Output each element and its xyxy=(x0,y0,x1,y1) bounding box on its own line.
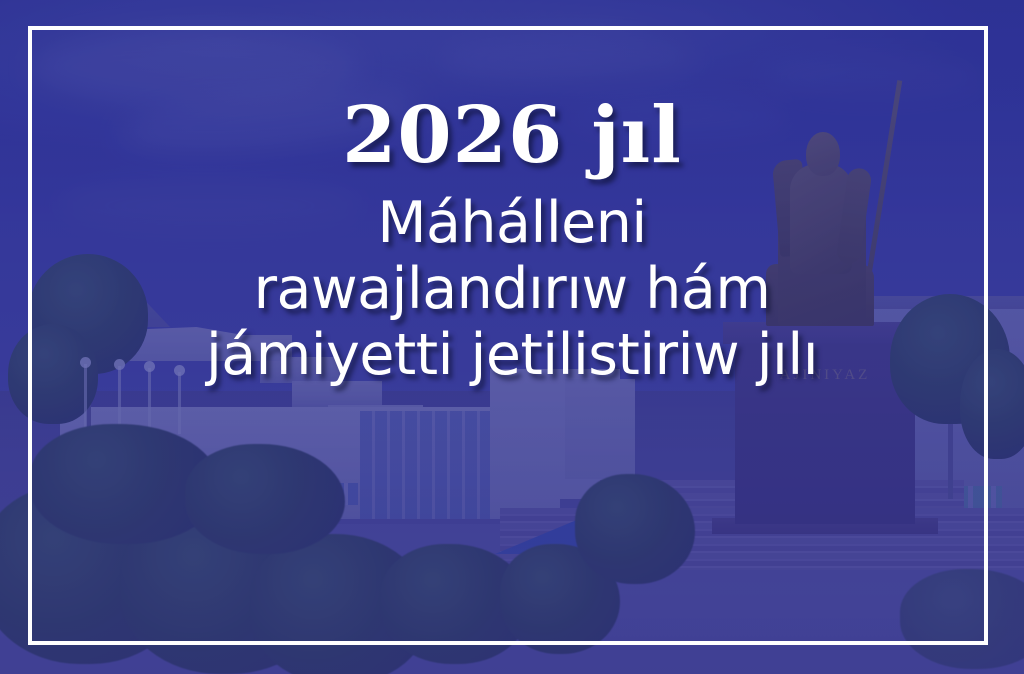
subtitle-line-2: rawajlandırıw hám xyxy=(60,256,964,322)
text-block: 2026 jıl Máhálleni rawajlandırıw hám jám… xyxy=(0,96,1024,388)
headline-year: 2026 jıl xyxy=(60,96,964,176)
subtitle-line-3: jámiyetti jetilistiriw jılı xyxy=(60,322,964,388)
poster-banner: AJINIYAZ xyxy=(0,0,1024,674)
subtitle-line-1: Máhálleni xyxy=(60,190,964,256)
subtitle: Máhálleni rawajlandırıw hám jámiyetti je… xyxy=(60,190,964,388)
